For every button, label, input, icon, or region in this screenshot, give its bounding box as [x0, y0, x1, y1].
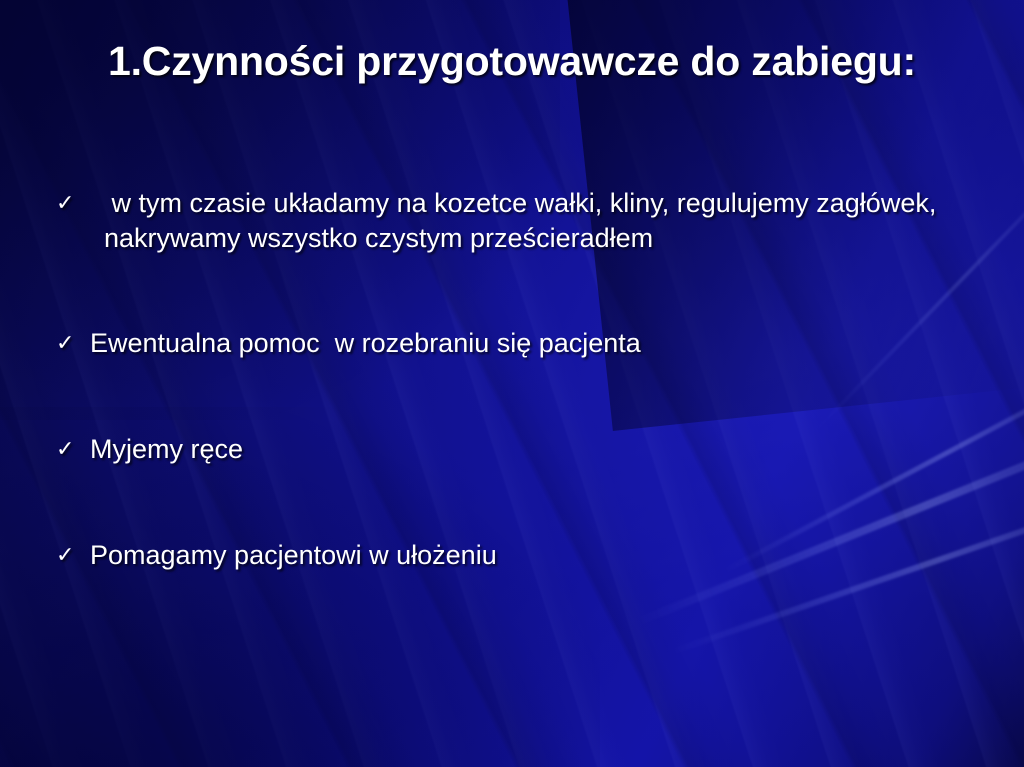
- list-item: ✓ Pomagamy pacjentowi w ułożeniu: [56, 538, 976, 573]
- checkmark-icon: ✓: [56, 538, 90, 572]
- list-item: ✓ Ewentualna pomoc w rozebraniu się pacj…: [56, 326, 976, 361]
- presentation-slide: 1.Czynności przygotowawcze do zabiegu: ✓…: [0, 0, 1024, 767]
- bullet-list: ✓ w tym czasie układamy na kozetce wałki…: [56, 186, 976, 573]
- list-item-text: Myjemy ręce: [90, 432, 976, 467]
- list-item: ✓ Myjemy ręce: [56, 432, 976, 467]
- checkmark-icon: ✓: [56, 326, 90, 360]
- checkmark-icon: ✓: [56, 432, 90, 466]
- list-item-text: Pomagamy pacjentowi w ułożeniu: [90, 538, 976, 573]
- slide-title: 1.Czynności przygotowawcze do zabiegu:: [70, 36, 954, 86]
- checkmark-icon: ✓: [56, 186, 104, 220]
- list-item: ✓ w tym czasie układamy na kozetce wałki…: [56, 186, 976, 256]
- list-item-text: Ewentualna pomoc w rozebraniu się pacjen…: [90, 326, 976, 361]
- list-item-text: w tym czasie układamy na kozetce wałki, …: [104, 186, 976, 256]
- slide-content: 1.Czynności przygotowawcze do zabiegu: ✓…: [0, 0, 1024, 767]
